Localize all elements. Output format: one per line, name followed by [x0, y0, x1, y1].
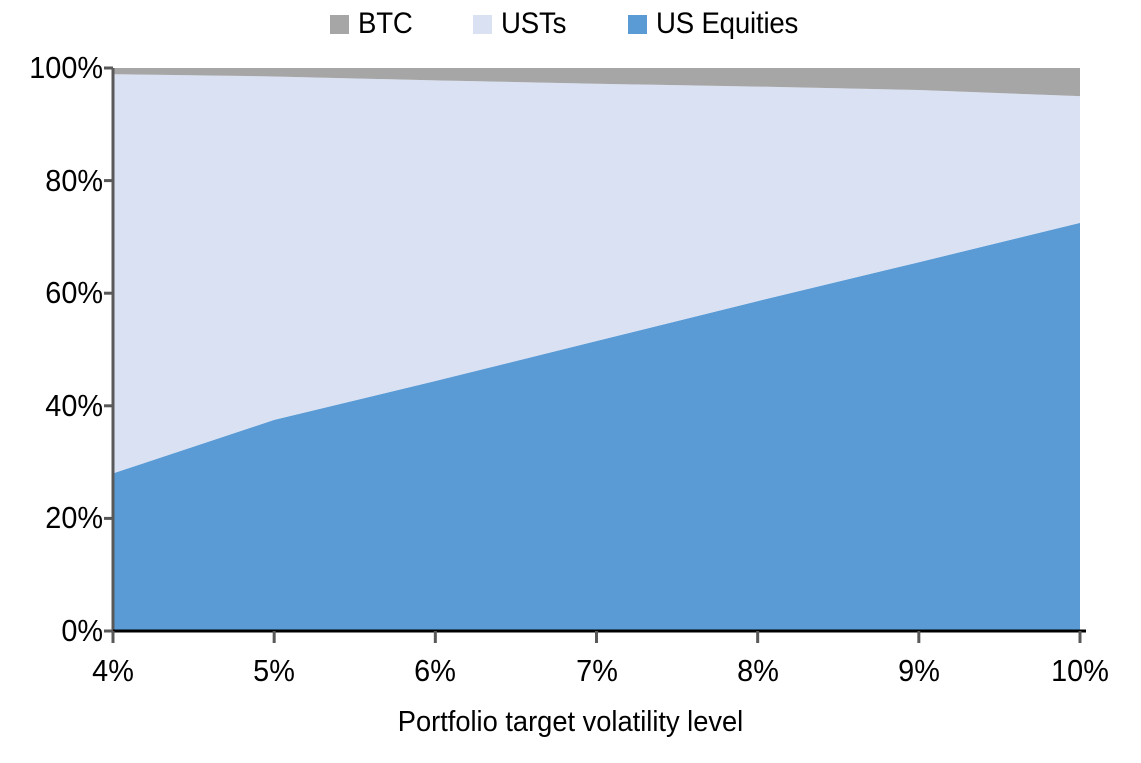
x-tick-label: 10% [1024, 655, 1136, 686]
x-tick-label: 6% [380, 655, 492, 686]
x-tick-label: 9% [863, 655, 975, 686]
x-tick-label: 4% [57, 655, 169, 686]
x-axis-title: Portfolio target volatility level [34, 705, 1107, 739]
stacked-area-chart: BTC USTs US Equities 0%20%40%60%80%100% … [0, 0, 1141, 763]
x-axis-tick-labels: 4%5%6%7%8%9%10% [0, 0, 1141, 763]
x-tick-label: 7% [541, 655, 653, 686]
x-tick-label: 5% [218, 655, 330, 686]
x-tick-label: 8% [702, 655, 814, 686]
